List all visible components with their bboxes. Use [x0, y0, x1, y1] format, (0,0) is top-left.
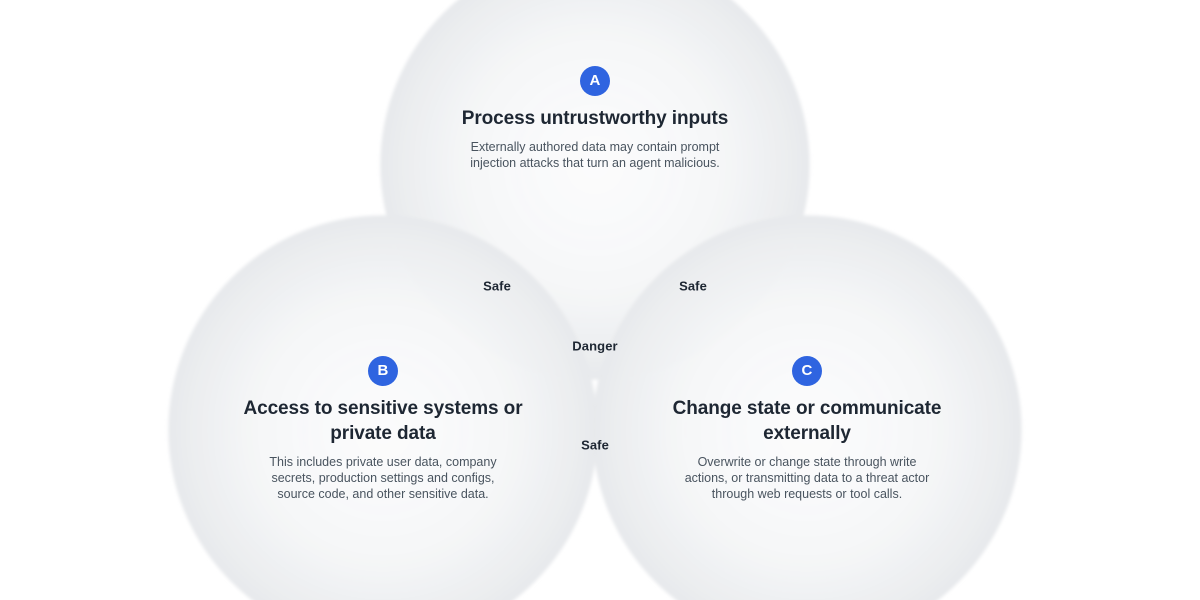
region-label-b-c: Safe	[581, 438, 609, 453]
set-a-title: Process untrustworthy inputs	[415, 106, 775, 131]
venn-set-a[interactable]: A Process untrustworthy inputs Externall…	[415, 66, 775, 171]
set-a-badge: A	[580, 66, 610, 96]
set-a-description: Externally authored data may contain pro…	[457, 139, 733, 171]
region-label-a-c: Safe	[679, 279, 707, 294]
set-c-description: Overwrite or change state through write …	[682, 454, 932, 502]
set-b-badge: B	[368, 356, 398, 386]
set-c-title: Change state or communicate externally	[657, 396, 957, 446]
region-label-a-b: Safe	[483, 279, 511, 294]
venn-set-c[interactable]: C Change state or communicate externally…	[657, 356, 957, 502]
set-b-description: This includes private user data, company…	[254, 454, 512, 502]
set-c-badge: C	[792, 356, 822, 386]
region-label-a-b-c: Danger	[572, 339, 617, 354]
venn-diagram: A Process untrustworthy inputs Externall…	[0, 0, 1200, 600]
set-b-title: Access to sensitive systems or private d…	[233, 396, 533, 446]
venn-set-b[interactable]: B Access to sensitive systems or private…	[233, 356, 533, 502]
